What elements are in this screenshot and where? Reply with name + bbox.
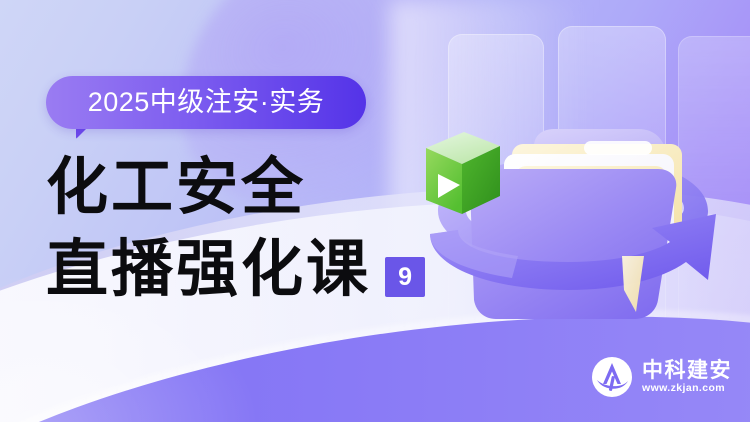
brand-logo[interactable]: 中科建安 www.zkjan.com bbox=[591, 356, 732, 398]
headline-line-1-text: 化工安全 bbox=[46, 154, 306, 222]
brand-name: 中科建安 bbox=[642, 360, 732, 381]
course-banner: 2025中级注安·实务 化工安全 直播强化课 9 中科建安 www.zkjan.… bbox=[0, 0, 750, 422]
headline-line-2: 直播强化课 9 bbox=[46, 234, 466, 306]
folder-front bbox=[470, 169, 676, 319]
episode-number-badge: 9 bbox=[385, 257, 425, 297]
headline-line-1: 化工安全 bbox=[46, 152, 466, 224]
brand-text-block: 中科建安 www.zkjan.com bbox=[642, 360, 732, 394]
course-category-label: 2025中级注安·实务 bbox=[88, 89, 325, 116]
headline-line-2-text: 直播强化课 bbox=[46, 234, 371, 306]
headline-block: 化工安全 直播强化课 9 bbox=[46, 152, 466, 306]
course-category-badge[interactable]: 2025中级注安·实务 bbox=[46, 76, 366, 129]
brand-url: www.zkjan.com bbox=[642, 383, 732, 394]
brand-mark-icon bbox=[591, 356, 633, 398]
